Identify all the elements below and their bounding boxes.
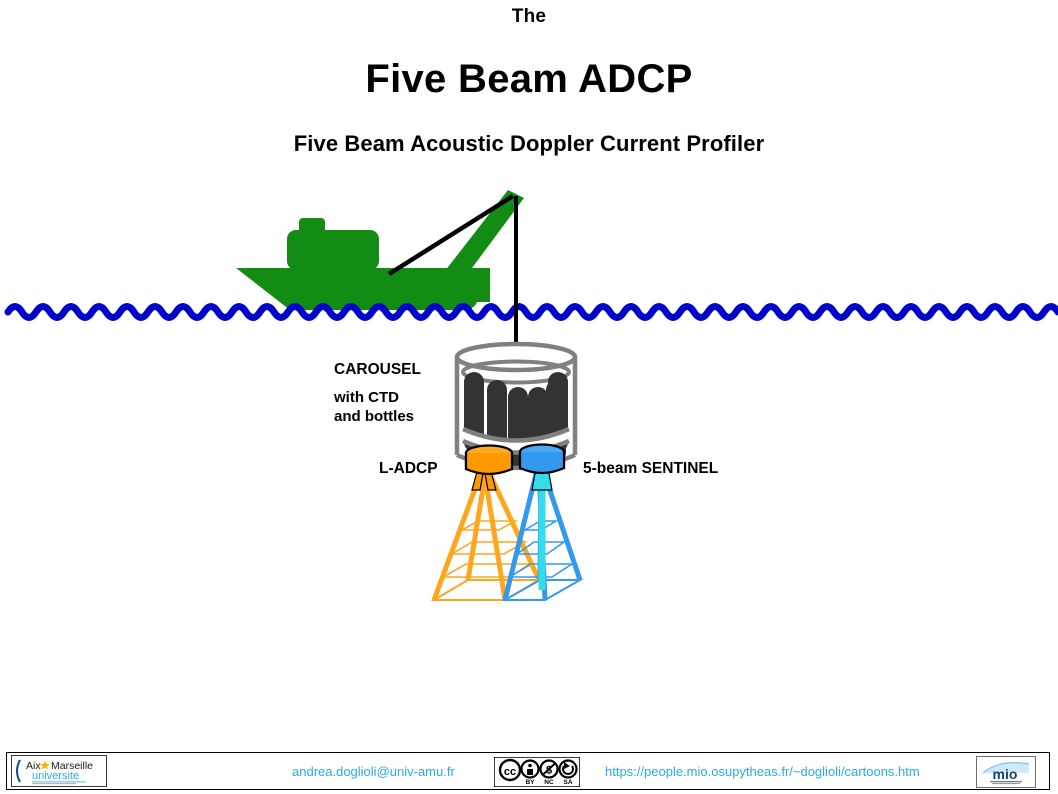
sentinel-instrument bbox=[520, 445, 564, 491]
label-carousel: CAROUSEL bbox=[334, 360, 421, 380]
diagram-scene bbox=[0, 0, 1058, 740]
mio-logo: mio bbox=[976, 756, 1036, 788]
label-carousel-detail-line2: and bottles bbox=[334, 407, 414, 426]
sea-surface-wave-line bbox=[8, 307, 1058, 318]
cartoons-url-link[interactable]: https://people.mio.osupytheas.fr/~doglio… bbox=[605, 764, 920, 779]
mio-logo-text: mio bbox=[993, 766, 1018, 782]
aix-marseille-universite-logo: Aix Marseille universite bbox=[11, 755, 107, 787]
label-carousel-detail: with CTD and bottles bbox=[334, 388, 414, 426]
cc-term-by: BY bbox=[525, 779, 535, 786]
contact-email-link[interactable]: andrea.doglioli@univ-amu.fr bbox=[292, 764, 455, 779]
amu-logo-line2: universite bbox=[32, 770, 79, 782]
ladcp-instrument bbox=[466, 446, 512, 491]
cc-term-nc: NC bbox=[544, 779, 554, 786]
label-ladcp: L-ADCP bbox=[379, 459, 438, 479]
cc-mark-text: cc bbox=[504, 766, 516, 778]
label-sentinel: 5-beam SENTINEL bbox=[583, 459, 718, 479]
research-vessel-icon bbox=[236, 190, 524, 310]
label-carousel-detail-line1: with CTD bbox=[334, 388, 414, 407]
creative-commons-by-nc-sa-logo[interactable]: cc BY $ NC SA bbox=[494, 757, 580, 787]
footer-bar: Aix Marseille universite andrea.doglioli… bbox=[6, 752, 1050, 790]
cc-term-sa: SA bbox=[563, 779, 572, 786]
